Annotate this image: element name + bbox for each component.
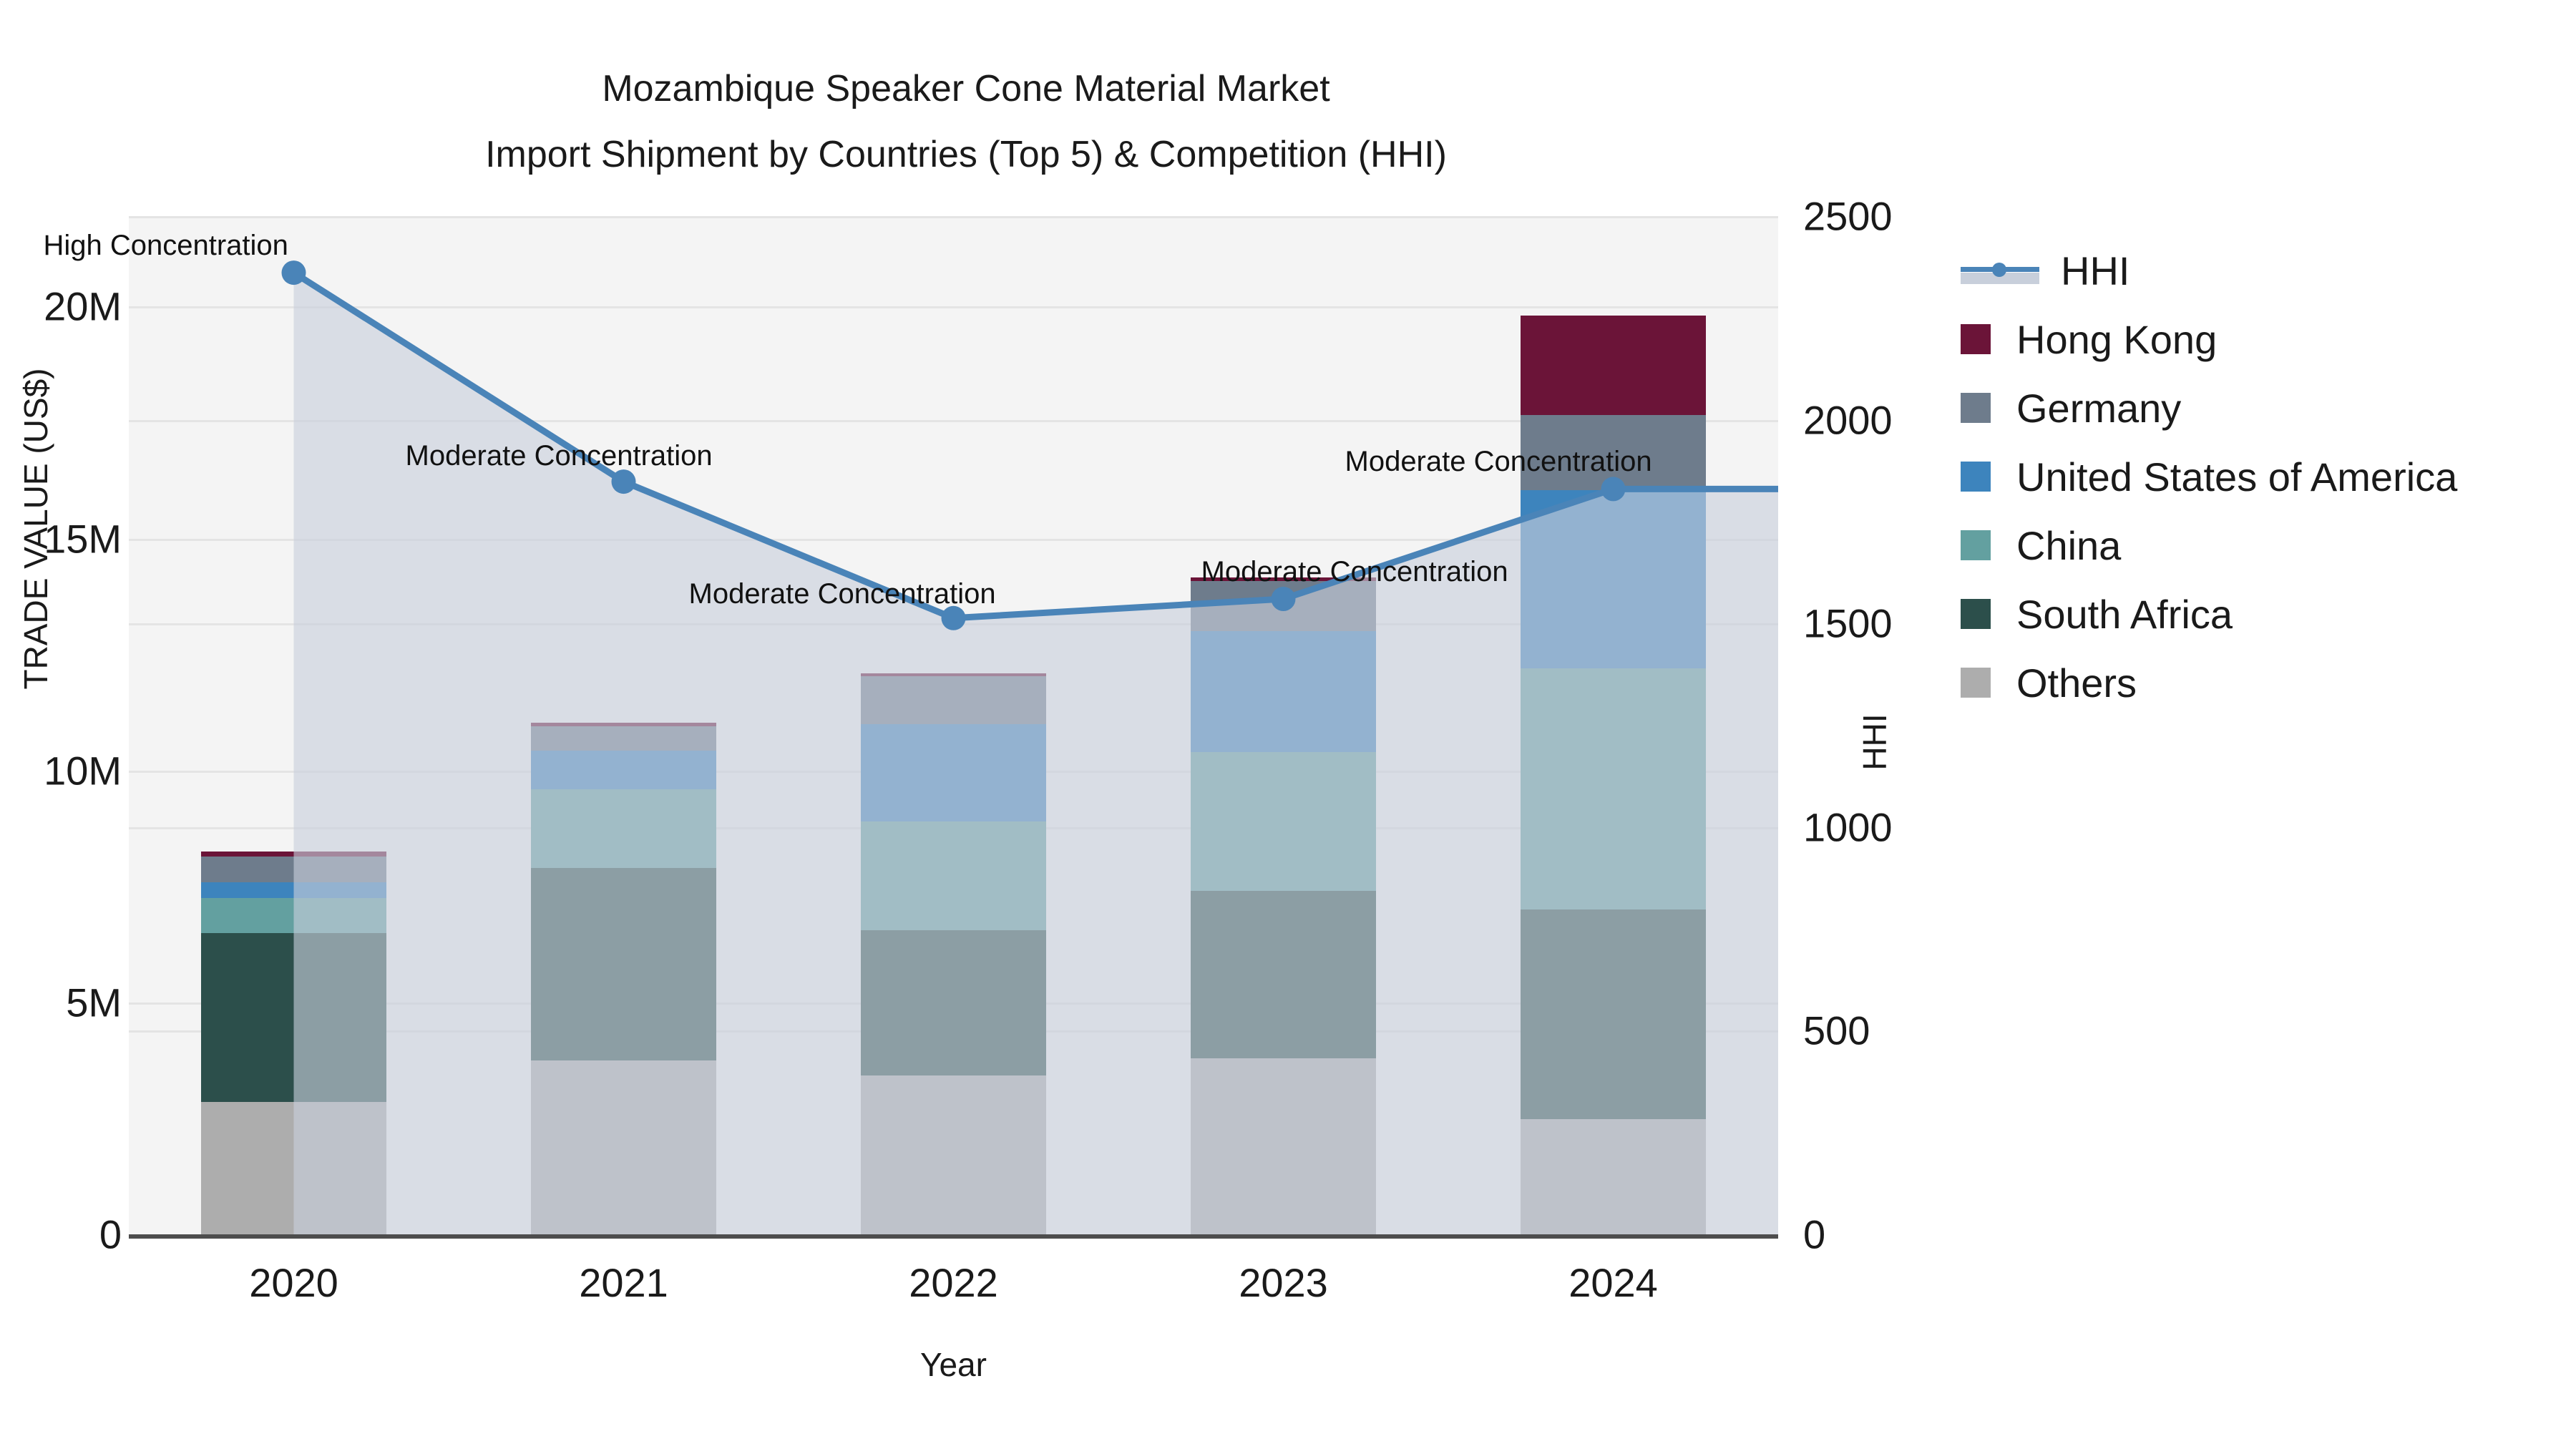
- legend-color-swatch: [1961, 530, 1991, 560]
- legend-item-label: South Africa: [2016, 591, 2233, 638]
- hhi-data-point[interactable]: [1272, 587, 1296, 611]
- legend-color-swatch: [1961, 668, 1991, 698]
- legend-item[interactable]: Hong Kong: [1961, 305, 2457, 374]
- hhi-data-point[interactable]: [1601, 477, 1626, 501]
- hhi-line-series: [129, 216, 1778, 1234]
- legend-item[interactable]: China: [1961, 511, 2457, 580]
- legend-color-swatch: [1961, 324, 1991, 354]
- hhi-data-point[interactable]: [612, 469, 636, 494]
- legend-item[interactable]: Others: [1961, 648, 2457, 717]
- hhi-annotation: Moderate Concentration: [1345, 446, 1652, 478]
- legend-color-swatch: [1961, 462, 1991, 492]
- legend-item[interactable]: South Africa: [1961, 580, 2457, 648]
- legend-item[interactable]: HHI: [1961, 236, 2457, 305]
- legend-item[interactable]: Germany: [1961, 374, 2457, 442]
- legend-item-label: Germany: [2016, 385, 2181, 431]
- legend-item-label: Others: [2016, 660, 2137, 706]
- hhi-data-point[interactable]: [282, 260, 306, 285]
- legend-line-marker-icon: [1961, 255, 2039, 286]
- legend-item[interactable]: United States of America: [1961, 442, 2457, 511]
- hhi-annotation: High Concentration: [44, 230, 288, 262]
- legend-item-label: HHI: [2061, 248, 2129, 294]
- chart-canvas: Mozambique Speaker Cone Material Market …: [0, 0, 2576, 1449]
- legend-color-swatch: [1961, 393, 1991, 423]
- legend-item-label: China: [2016, 522, 2121, 569]
- legend-item-label: Hong Kong: [2016, 316, 2217, 363]
- legend-item-label: United States of America: [2016, 454, 2457, 500]
- legend-color-swatch: [1961, 599, 1991, 629]
- hhi-annotation: Moderate Concentration: [689, 578, 996, 610]
- legend-line-dot: [1992, 263, 2006, 277]
- chart-legend: HHIHong KongGermanyUnited States of Amer…: [1961, 236, 2457, 717]
- hhi-annotation: Moderate Concentration: [1201, 556, 1508, 588]
- hhi-annotation: Moderate Concentration: [406, 440, 713, 472]
